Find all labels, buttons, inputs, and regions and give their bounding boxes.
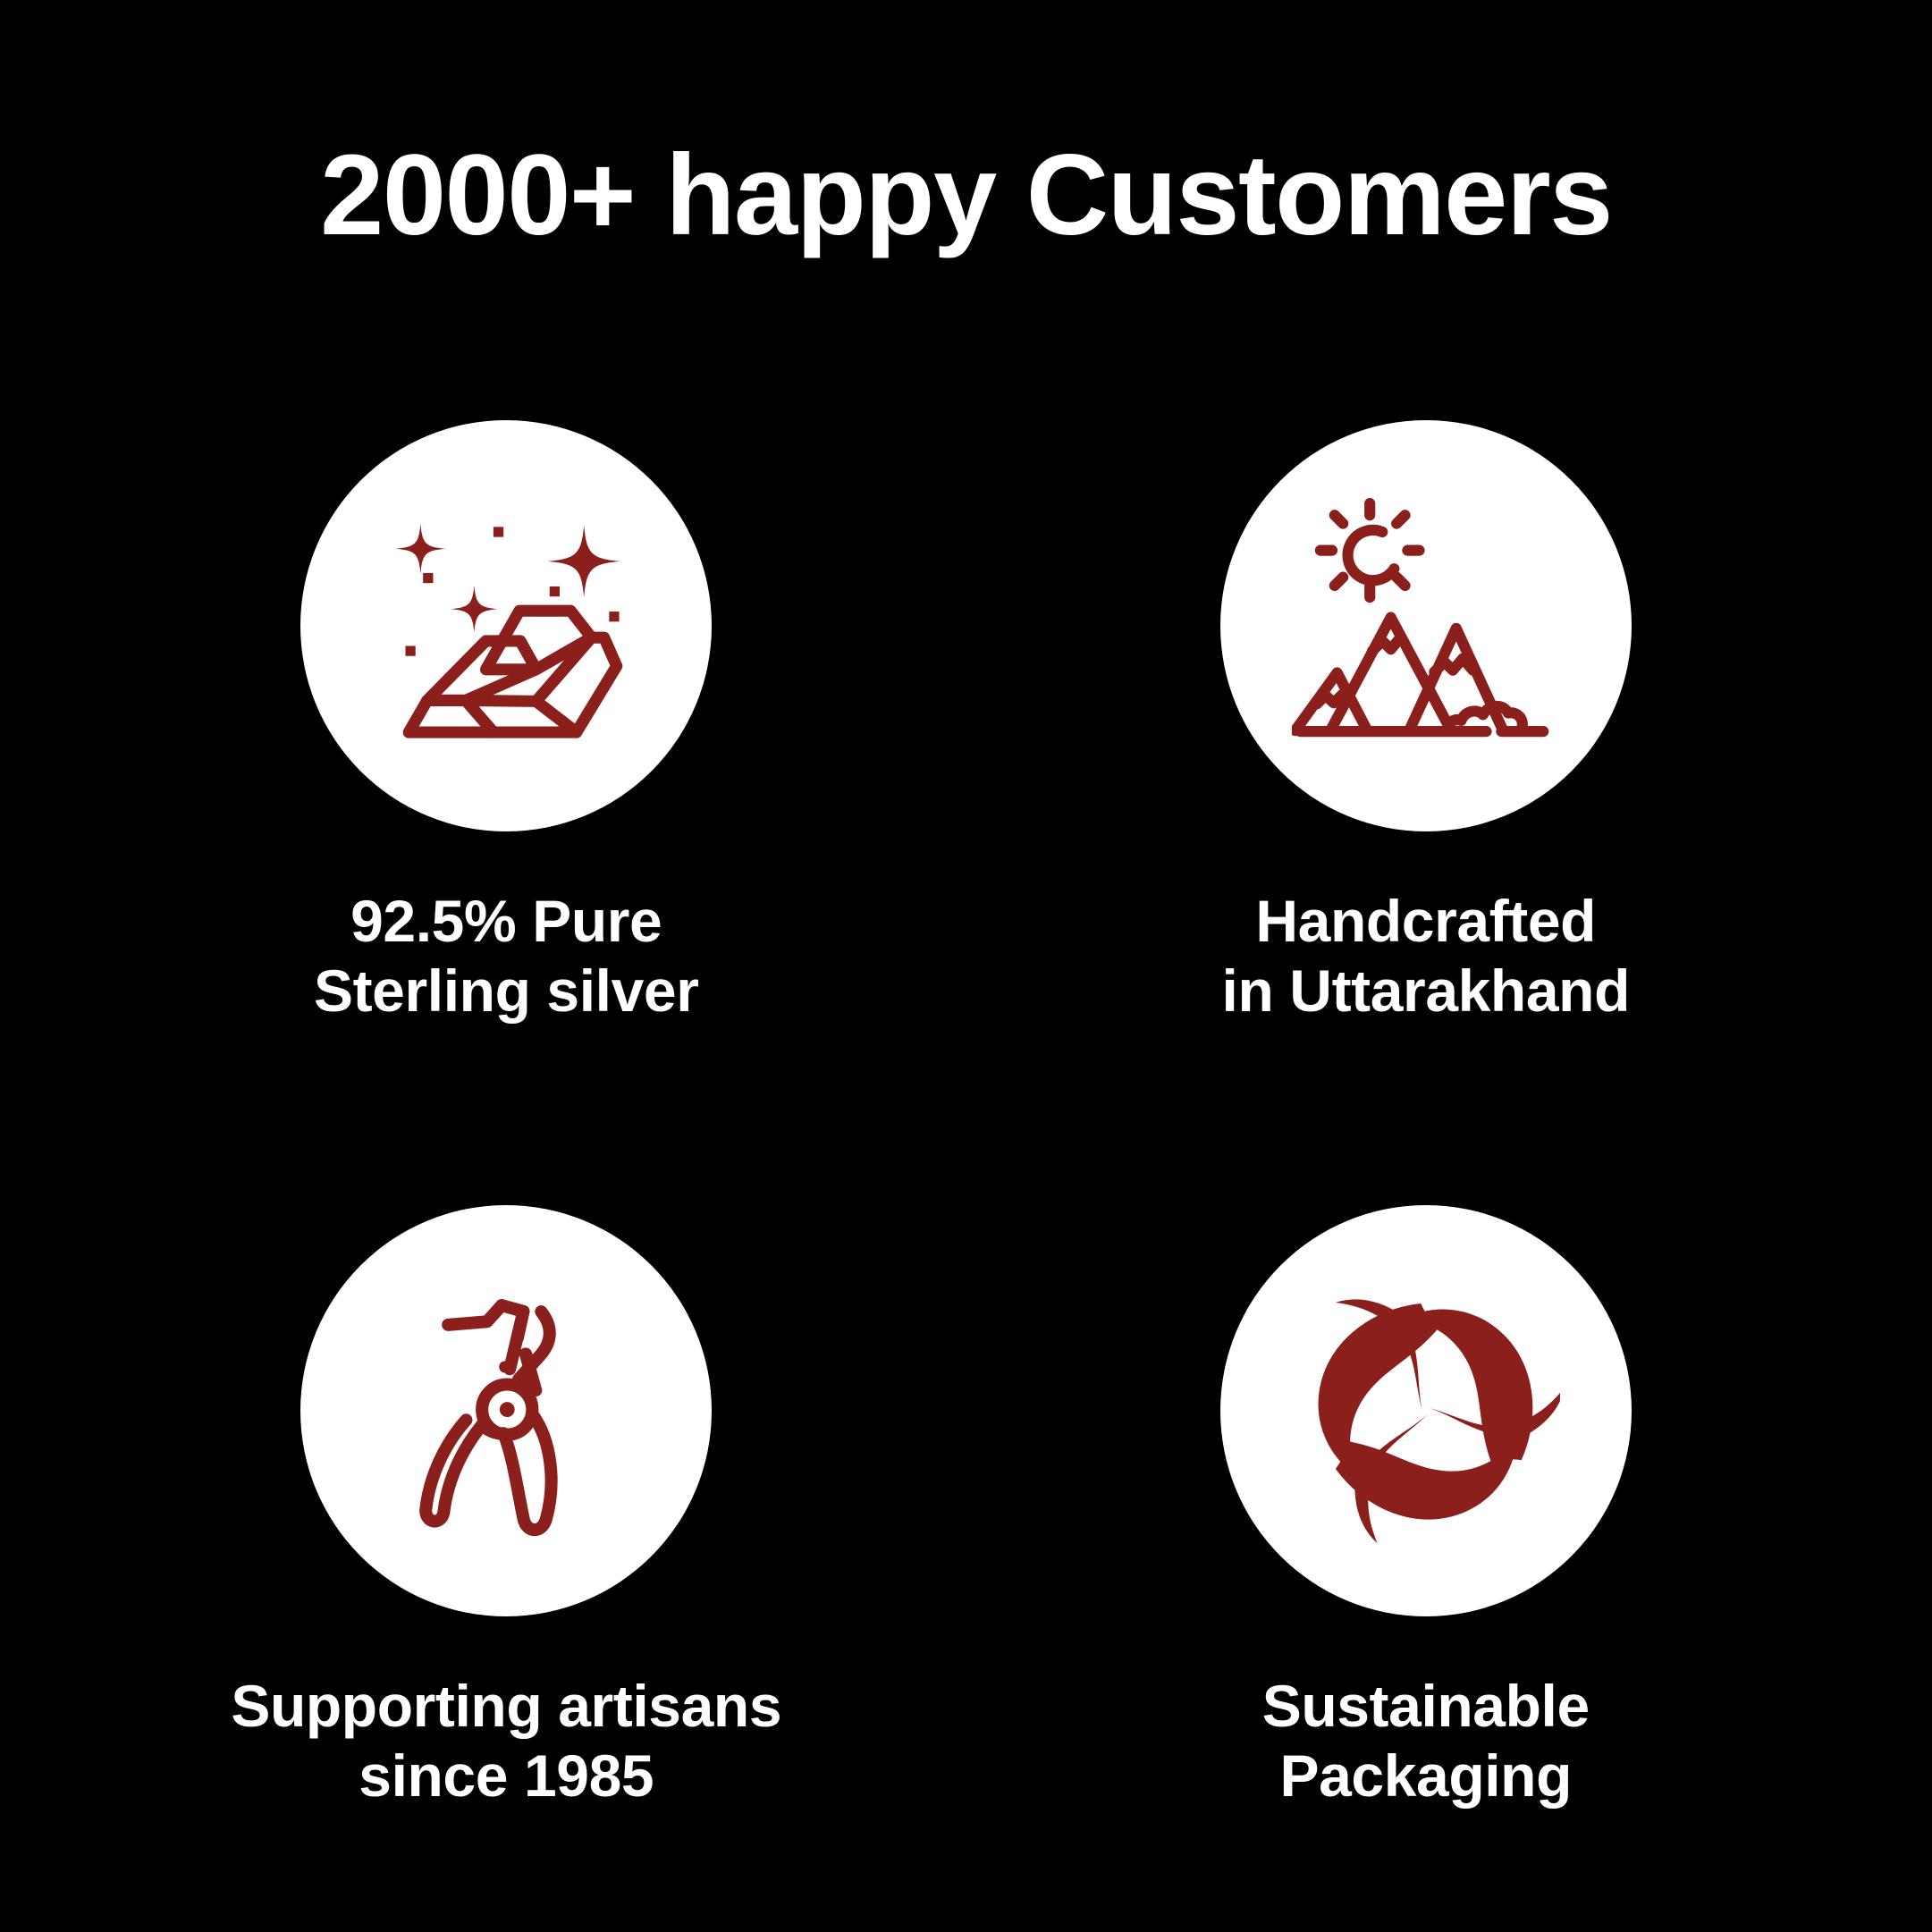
feature-caption: 92.5% Pure Sterling silver xyxy=(314,887,699,1026)
feature-icon-badge xyxy=(1220,420,1632,831)
feature-caption: Supporting artisans since 1985 xyxy=(231,1672,781,1811)
feature-icon-badge xyxy=(1220,1205,1632,1616)
promo-banner: 2000+ happy Customers xyxy=(0,0,1932,1932)
feature-grid: 92.5% Pure Sterling silver xyxy=(89,420,1843,1811)
feature-icon-badge xyxy=(300,1205,712,1616)
pliers-tool-icon xyxy=(372,1277,640,1545)
page-title-container: 2000+ happy Customers xyxy=(0,134,1932,257)
mountains-sun-icon xyxy=(1292,492,1560,760)
page-title: 2000+ happy Customers xyxy=(320,134,1612,257)
feature-card-sterling-silver: 92.5% Pure Sterling silver xyxy=(68,420,945,1026)
feature-card-artisans: Supporting artisans since 1985 xyxy=(68,1205,945,1811)
three-leaves-recycle-icon xyxy=(1292,1277,1560,1545)
silver-bars-sparkle-icon xyxy=(372,492,640,760)
feature-caption: Handcrafted in Uttarakhand xyxy=(1222,887,1630,1026)
feature-caption: Sustainable Packaging xyxy=(1262,1672,1590,1811)
feature-card-packaging: Sustainable Packaging xyxy=(988,1205,1865,1811)
feature-icon-badge xyxy=(300,420,712,831)
feature-card-handcrafted: Handcrafted in Uttarakhand xyxy=(988,420,1865,1026)
